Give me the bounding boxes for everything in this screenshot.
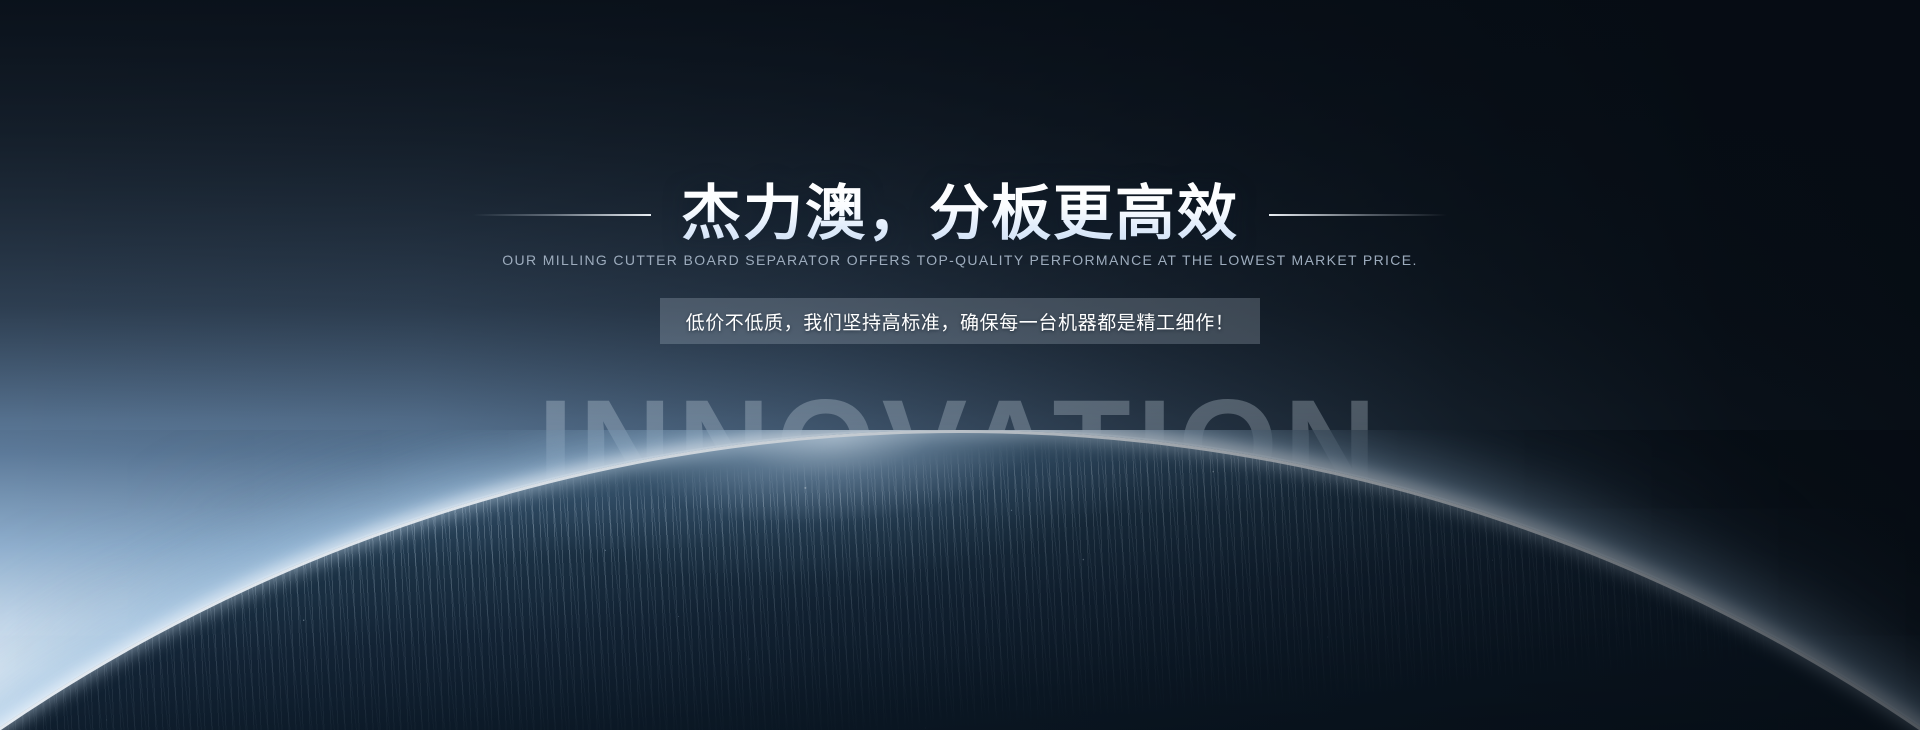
tagline-banner: 低价不低质，我们坚持高标准，确保每一台机器都是精工细作！ [660,298,1261,344]
decorative-rule-left-icon [473,214,651,216]
hero-content: 杰力澳，分板更高效 OUR MILLING CUTTER BOARD SEPAR… [0,0,1920,730]
page-title: 杰力澳，分板更高效 [681,182,1239,247]
hero-subtitle: OUR MILLING CUTTER BOARD SEPARATOR OFFER… [0,252,1920,268]
decorative-rule-right-icon [1269,214,1447,216]
tagline-row: 低价不低质，我们坚持高标准，确保每一台机器都是精工细作！ [0,298,1920,344]
hero-banner: INNOVATION 杰力澳，分板更高效 OUR MILLING CUTTER … [0,0,1920,730]
